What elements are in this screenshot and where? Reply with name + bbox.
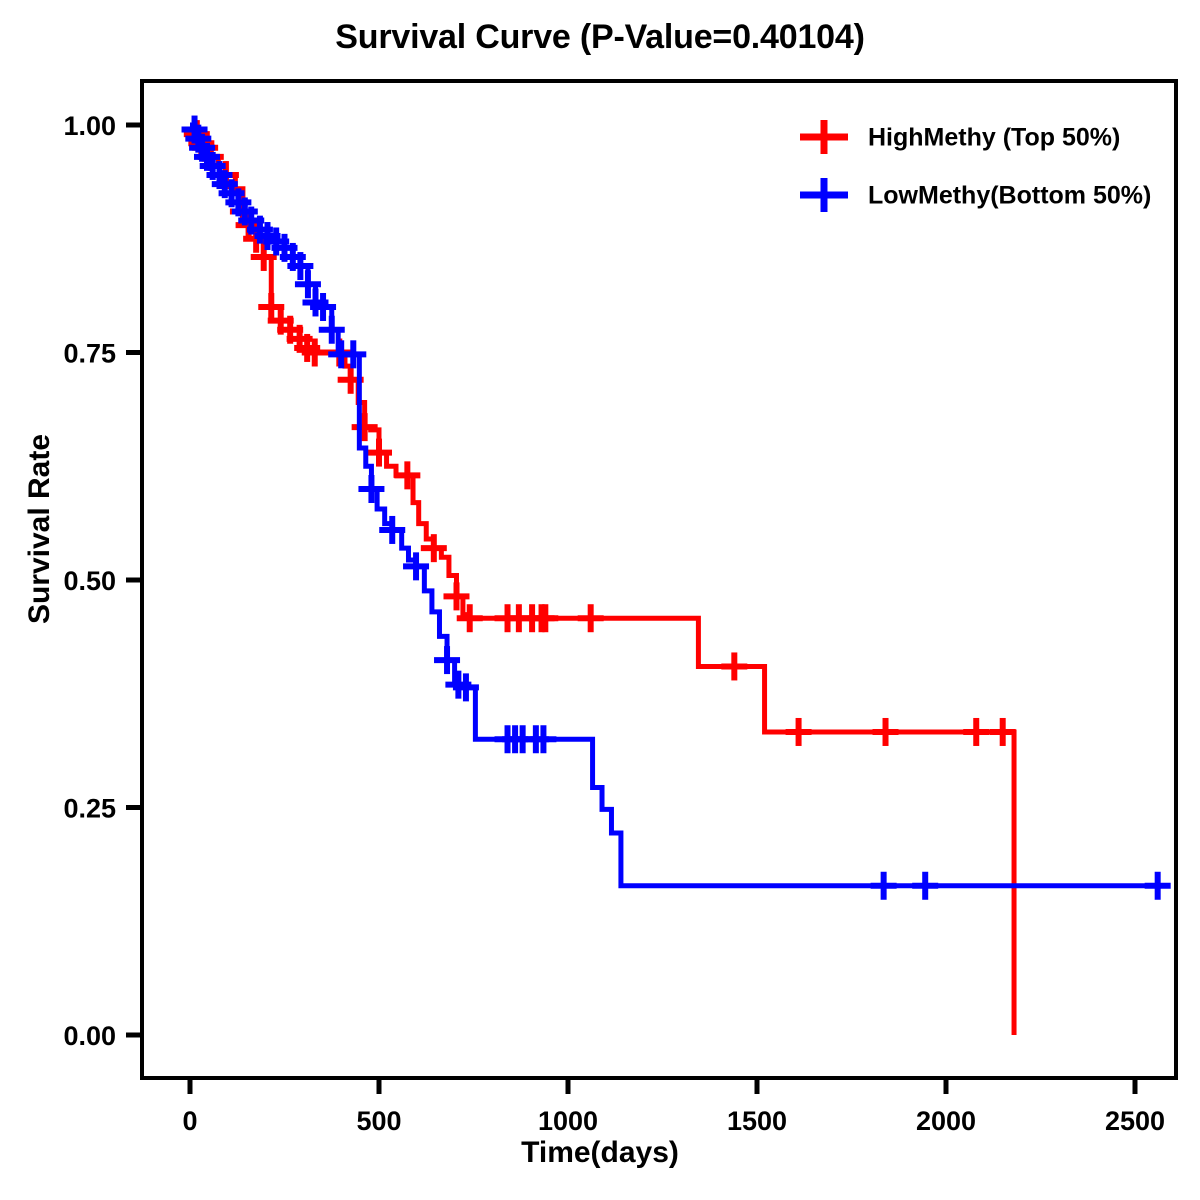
legend-item-highmethy[interactable]: HighMethy (Top 50%) (800, 120, 1120, 154)
tick-labels: 050010001500200025000.000.250.500.751.00 (63, 111, 1165, 1136)
survival-curve-low (182, 116, 1171, 900)
survival-curve-high (184, 120, 1016, 1035)
legend-item-lowmethy[interactable]: LowMethy(Bottom 50%) (800, 178, 1151, 212)
y-tick-label: 1.00 (63, 111, 116, 141)
x-tick-label: 500 (356, 1106, 401, 1136)
y-tick-label: 0.75 (63, 339, 116, 369)
x-tick-label: 2500 (1105, 1106, 1165, 1136)
legend-label: LowMethy(Bottom 50%) (868, 182, 1151, 210)
plot-frame (142, 81, 1176, 1078)
series-layer (182, 116, 1171, 1035)
y-tick-label: 0.50 (63, 566, 116, 596)
survival-plot: 050010001500200025000.000.250.500.751.00… (0, 0, 1200, 1200)
censor-marks (182, 116, 1171, 900)
legend-label: HighMethy (Top 50%) (868, 124, 1120, 152)
chart-legend: HighMethy (Top 50%)LowMethy(Bottom 50%) (800, 120, 1151, 212)
axis-ticks (126, 125, 1135, 1094)
legend-plus-icon (800, 178, 848, 212)
legend-plus-icon (800, 120, 848, 154)
x-tick-label: 2000 (916, 1106, 976, 1136)
censor-marks (184, 120, 1016, 746)
x-tick-label: 0 (182, 1106, 197, 1136)
x-tick-label: 1500 (727, 1106, 787, 1136)
x-tick-label: 1000 (538, 1106, 598, 1136)
y-tick-label: 0.00 (63, 1021, 116, 1051)
chart-page: Survival Curve (P-Value=0.40104) Surviva… (0, 0, 1200, 1200)
y-tick-label: 0.25 (63, 794, 116, 824)
